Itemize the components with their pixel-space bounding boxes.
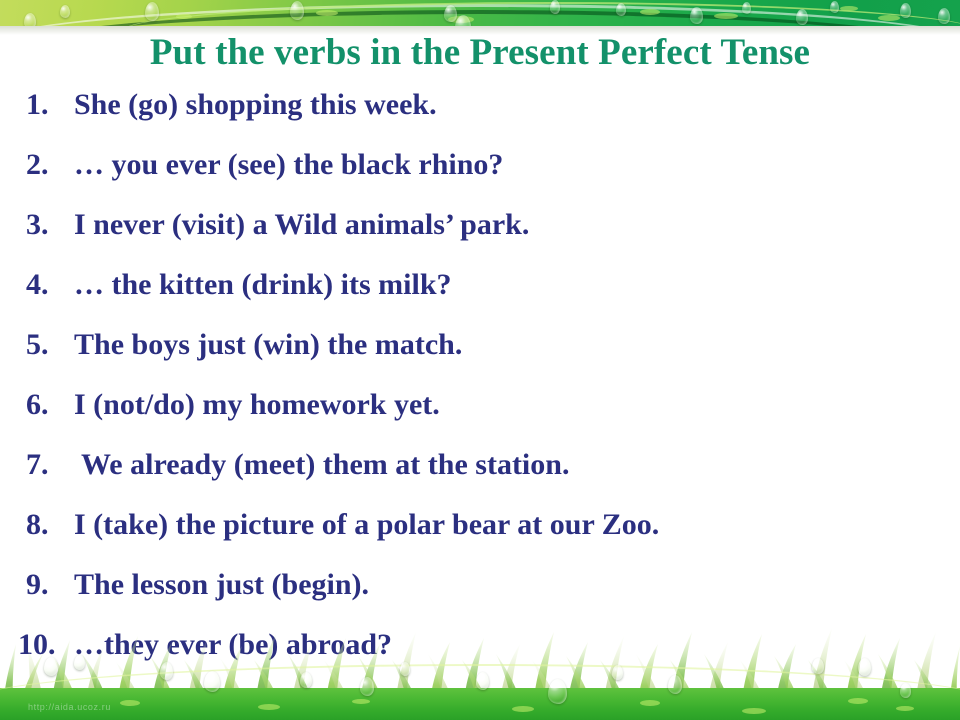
- exercise-list: 1. She (go) shopping this week. 2. … you…: [18, 88, 948, 688]
- water-drop-icon: [145, 2, 159, 21]
- list-item-text: We already (meet) them at the station.: [74, 448, 569, 482]
- water-drop-icon: [290, 1, 304, 20]
- list-item: 9. The lesson just (begin).: [18, 568, 948, 628]
- list-item-text: I never (visit) a Wild animals’ park.: [74, 208, 529, 242]
- water-drop-icon: [796, 9, 808, 25]
- leaf-blob-icon: [878, 15, 900, 21]
- water-drop-icon: [690, 7, 703, 24]
- list-item-number: 10.: [18, 628, 74, 662]
- leaf-blob-icon: [714, 13, 738, 19]
- list-item-number: 3.: [18, 208, 74, 242]
- leaf-blob-icon: [316, 10, 338, 16]
- list-item-text: …they ever (be) abroad?: [74, 628, 392, 662]
- water-drop-icon: [742, 2, 751, 14]
- list-item-number: 1.: [18, 88, 74, 122]
- water-drop-icon: [60, 5, 70, 18]
- leaf-blob-icon: [120, 700, 140, 706]
- list-item-number: 6.: [18, 388, 74, 422]
- list-item: 1. She (go) shopping this week.: [18, 88, 948, 148]
- list-item: 6. I (not/do) my homework yet.: [18, 388, 948, 448]
- list-item: 10. …they ever (be) abroad?: [18, 628, 948, 688]
- ground-strip: [0, 688, 960, 720]
- list-item-text: I (take) the picture of a polar bear at …: [74, 508, 659, 542]
- slide-canvas: Put the verbs in the Present Perfect Ten…: [0, 0, 960, 720]
- list-item-number: 4.: [18, 268, 74, 302]
- leaf-blob-icon: [176, 14, 192, 19]
- water-drop-icon: [900, 3, 911, 18]
- list-item-number: 2.: [18, 148, 74, 182]
- leaf-blob-icon: [640, 9, 660, 15]
- water-drop-icon: [24, 13, 36, 26]
- list-item-text: … you ever (see) the black rhino?: [74, 148, 503, 182]
- water-drop-icon: [938, 8, 950, 24]
- list-item-number: 9.: [18, 568, 74, 602]
- list-item-text: She (go) shopping this week.: [74, 88, 437, 122]
- site-watermark: http://aida.ucoz.ru: [28, 702, 111, 712]
- water-drop-icon: [550, 0, 560, 14]
- leaf-blob-icon: [896, 706, 914, 711]
- list-item-text: I (not/do) my homework yet.: [74, 388, 440, 422]
- list-item-text: The lesson just (begin).: [74, 568, 369, 602]
- leaf-blob-icon: [848, 698, 868, 704]
- top-banner-decoration: [0, 0, 960, 26]
- leaf-blob-icon: [640, 700, 660, 706]
- leaf-blob-icon: [258, 704, 280, 710]
- water-drop-icon: [444, 5, 457, 22]
- list-item-text: The boys just (win) the match.: [74, 328, 462, 362]
- leaf-blob-icon: [840, 6, 858, 11]
- list-item: 8. I (take) the picture of a polar bear …: [18, 508, 948, 568]
- list-item-number: 8.: [18, 508, 74, 542]
- leaf-blob-icon: [352, 699, 370, 704]
- list-item: 5. The boys just (win) the match.: [18, 328, 948, 388]
- list-item: 4. … the kitten (drink) its milk?: [18, 268, 948, 328]
- list-item: 2. … you ever (see) the black rhino?: [18, 148, 948, 208]
- list-item: 3. I never (visit) a Wild animals’ park.: [18, 208, 948, 268]
- list-item-text: … the kitten (drink) its milk?: [74, 268, 452, 302]
- page-title: Put the verbs in the Present Perfect Ten…: [0, 31, 960, 74]
- water-drop-icon: [616, 3, 626, 16]
- list-item: 7. We already (meet) them at the station…: [18, 448, 948, 508]
- leaf-blob-icon: [512, 706, 534, 712]
- water-drop-icon: [830, 1, 839, 13]
- list-item-number: 7.: [18, 448, 74, 482]
- list-item-number: 5.: [18, 328, 74, 362]
- leaf-blob-icon: [742, 708, 766, 714]
